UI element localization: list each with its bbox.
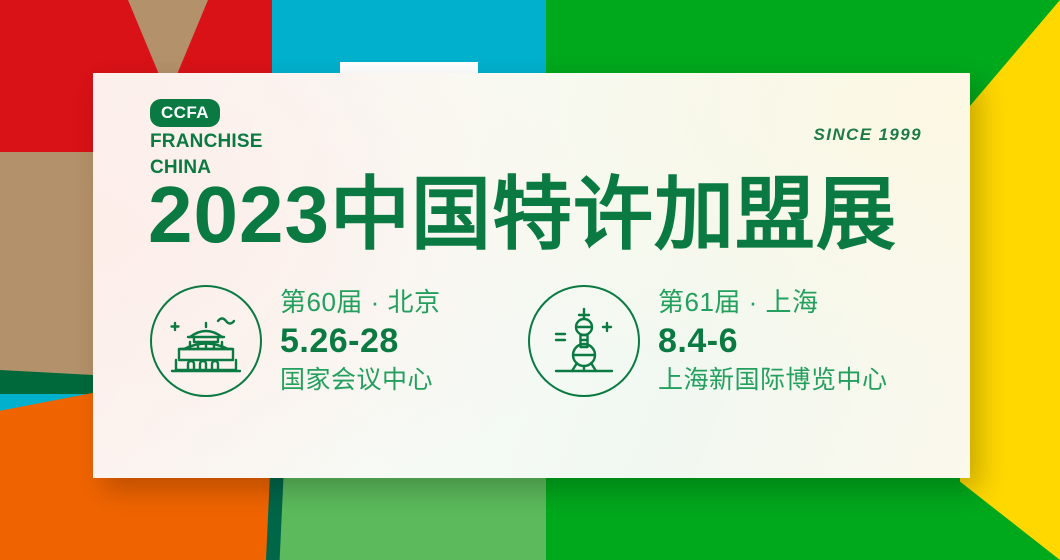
ccfa-logo: CCFA FRANCHISE CHINA (150, 99, 263, 178)
event-item-shanghai: 第61届 · 上海 8.4-6 上海新国际博览中心 (528, 285, 888, 397)
since-label: SINCE 1999 (814, 125, 923, 145)
event-venue-shanghai: 上海新国际博览中心 (658, 368, 888, 393)
poster: CCFA FRANCHISE CHINA SINCE 1999 2023中国特许… (0, 0, 1060, 560)
card-header: CCFA FRANCHISE CHINA SINCE 1999 (150, 99, 922, 177)
event-edition-beijing: 第60届 · 北京 (280, 289, 441, 315)
event-date-shanghai: 8.4-6 (658, 324, 888, 358)
content-card: CCFA FRANCHISE CHINA SINCE 1999 2023中国特许… (93, 73, 970, 478)
event-edition-shanghai: 第61届 · 上海 (658, 289, 888, 315)
oriental-pearl-tower-icon (528, 285, 640, 397)
tiananmen-gate-icon (150, 285, 262, 397)
event-venue-beijing: 国家会议中心 (280, 368, 441, 393)
event-text-shanghai: 第61届 · 上海 8.4-6 上海新国际博览中心 (658, 289, 888, 393)
event-text-beijing: 第60届 · 北京 5.26-28 国家会议中心 (280, 289, 441, 393)
event-list: 第60届 · 北京 5.26-28 国家会议中心 (150, 285, 932, 397)
ccfa-logo-line-1: FRANCHISE (150, 132, 263, 153)
ccfa-logo-pill: CCFA (150, 99, 220, 127)
event-date-beijing: 5.26-28 (280, 324, 441, 358)
event-item-beijing: 第60届 · 北京 5.26-28 国家会议中心 (150, 285, 480, 397)
page-title: 2023中国特许加盟展 (148, 175, 897, 255)
